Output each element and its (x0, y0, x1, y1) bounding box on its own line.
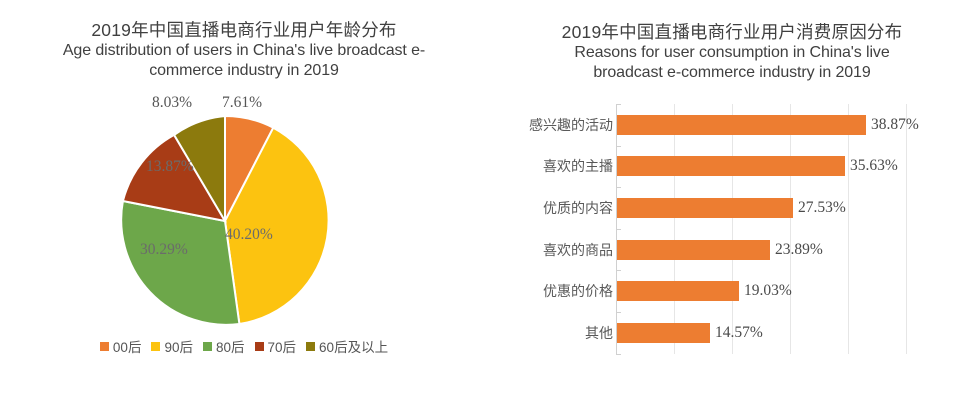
legend-item-60hou-plus[interactable]: 60后及以上 (306, 336, 388, 356)
legend-swatch-icon-80hou (203, 342, 212, 351)
bar-value-label-2: 27.53% (798, 199, 846, 217)
legend-swatch-icon-00hou (100, 342, 109, 351)
bar-category-label-3: 喜欢的商品 (488, 240, 613, 260)
legend-item-80hou[interactable]: 80后 (203, 336, 245, 356)
legend-swatch-icon-60hou-plus (306, 342, 315, 351)
bar-value-label-0: 38.87% (871, 116, 919, 134)
pie-label-00hou: 7.61% (222, 94, 262, 112)
legend-label-90hou: 90后 (164, 336, 193, 356)
pie-chart-plot-area: 7.61% 8.03% 40.20% 30.29% 13.87% (0, 96, 488, 341)
bar-category-label-5: 其他 (488, 323, 613, 343)
bar-chart-title: 2019年中国直播电商行业用户消费原因分布 Reasons for user c… (506, 22, 958, 82)
pie-label-70hou: 13.87% (146, 158, 194, 176)
bar-rect-0[interactable] (617, 115, 866, 135)
bar-rect-2[interactable] (617, 198, 793, 218)
bar-rect-3[interactable] (617, 240, 770, 260)
bar-category-label-1: 喜欢的主播 (488, 156, 613, 176)
bar-row: 优惠的价格 19.03% (488, 270, 976, 312)
pie-title-chinese: 2019年中国直播电商行业用户年龄分布 (24, 20, 464, 41)
bar-rect-4[interactable] (617, 281, 739, 301)
pie-chart-title: 2019年中国直播电商行业用户年龄分布 Age distribution of … (24, 20, 464, 80)
bar-value-label-5: 14.57% (715, 324, 763, 342)
legend-label-60hou-plus: 60后及以上 (319, 336, 388, 356)
pie-label-80hou: 30.29% (140, 241, 188, 259)
bar-category-label-2: 优质的内容 (488, 198, 613, 218)
bar-chart-plot-area: 感兴趣的活动 38.87% 喜欢的主播 35.63% 优质的内容 27.53% … (488, 104, 976, 354)
legend-label-70hou: 70后 (268, 336, 297, 356)
bar-value-label-4: 19.03% (744, 282, 792, 300)
pie-chart-legend: 00后 90后 80后 70后 60后及以上 (0, 336, 488, 356)
bar-title-english-line2: broadcast e-commerce industry in 2019 (506, 63, 958, 83)
bar-row: 优质的内容 27.53% (488, 187, 976, 229)
pie-title-english-line1: Age distribution of users in China's liv… (24, 41, 464, 61)
legend-item-70hou[interactable]: 70后 (255, 336, 297, 356)
pie-title-english-line2: commerce industry in 2019 (24, 61, 464, 81)
legend-item-00hou[interactable]: 00后 (100, 336, 142, 356)
axis-tick (616, 354, 621, 355)
legend-label-00hou: 00后 (113, 336, 142, 356)
pie-label-90hou: 40.20% (225, 226, 273, 244)
pie-label-60hou-plus: 8.03% (152, 94, 192, 112)
bar-value-label-3: 23.89% (775, 241, 823, 259)
bar-title-chinese: 2019年中国直播电商行业用户消费原因分布 (506, 22, 958, 43)
bar-title-english-line1: Reasons for user consumption in China's … (506, 43, 958, 63)
bar-value-label-1: 35.63% (850, 157, 898, 175)
bar-category-label-4: 优惠的价格 (488, 281, 613, 301)
pie-chart-panel: 2019年中国直播电商行业用户年龄分布 Age distribution of … (0, 0, 488, 414)
legend-swatch-icon-70hou (255, 342, 264, 351)
legend-item-90hou[interactable]: 90后 (151, 336, 193, 356)
pie-svg (118, 114, 332, 328)
bar-category-label-0: 感兴趣的活动 (488, 115, 613, 135)
bar-chart-panel: 2019年中国直播电商行业用户消费原因分布 Reasons for user c… (488, 0, 976, 414)
bar-row: 喜欢的主播 35.63% (488, 146, 976, 188)
bar-rect-5[interactable] (617, 323, 710, 343)
legend-swatch-icon-90hou (151, 342, 160, 351)
bar-rect-1[interactable] (617, 156, 845, 176)
legend-label-80hou: 80后 (216, 336, 245, 356)
bar-row: 感兴趣的活动 38.87% (488, 104, 976, 146)
bar-row: 其他 14.57% (488, 312, 976, 354)
bar-row: 喜欢的商品 23.89% (488, 229, 976, 271)
